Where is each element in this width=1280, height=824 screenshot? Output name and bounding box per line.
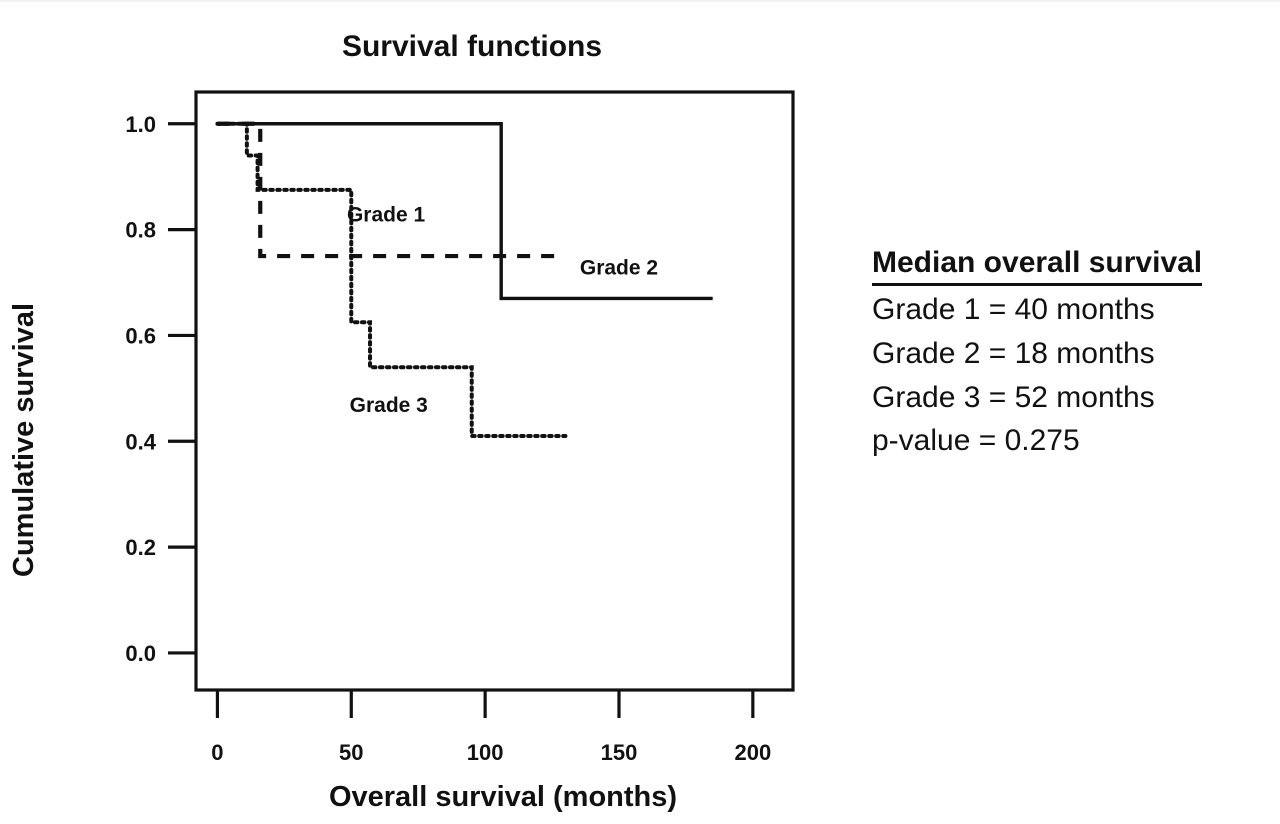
curve-label-grade-1: Grade 1 bbox=[347, 204, 426, 227]
y-tick-label: 0.2 bbox=[125, 535, 156, 560]
y-tick-label: 0.6 bbox=[125, 323, 156, 348]
y-tick-label: 0.4 bbox=[125, 429, 156, 454]
legend-line-grade-1: Grade 1 = 40 months bbox=[872, 290, 1272, 330]
legend-heading: Median overall survival bbox=[872, 244, 1202, 286]
median-survival-legend: Median overall survival Grade 1 = 40 mon… bbox=[872, 244, 1272, 461]
survival-figure: Survival functions Overall survival (mon… bbox=[0, 0, 1280, 824]
curve-label-grade-3: Grade 3 bbox=[350, 394, 428, 417]
x-axis-title: Overall survival (months) bbox=[329, 781, 677, 813]
x-tick-label: 50 bbox=[339, 740, 363, 765]
legend-line-grade-2: Grade 2 = 18 months bbox=[872, 334, 1272, 374]
y-tick-label: 0.0 bbox=[125, 641, 156, 666]
legend-line-grade-3: Grade 3 = 52 months bbox=[872, 378, 1272, 418]
y-tick-label: 1.0 bbox=[125, 112, 156, 137]
y-tick-label: 0.8 bbox=[125, 218, 156, 243]
plot-frame bbox=[196, 92, 793, 690]
chart-title: Survival functions bbox=[342, 30, 602, 63]
y-axis-title: Cumulative survival bbox=[8, 303, 40, 577]
x-tick-label: 0 bbox=[211, 740, 223, 765]
x-tick-label: 200 bbox=[734, 740, 771, 765]
x-tick-label: 150 bbox=[601, 740, 638, 765]
curve-label-grade-2: Grade 2 bbox=[580, 257, 658, 280]
y-axis-ticks: 0.00.20.40.60.81.0 bbox=[125, 112, 196, 666]
x-tick-label: 100 bbox=[467, 740, 504, 765]
x-axis-ticks: 050100150200 bbox=[211, 690, 771, 765]
km-curves bbox=[217, 124, 712, 436]
legend-line-p-value: p-value = 0.275 bbox=[872, 421, 1272, 461]
km-curve-grade-3 bbox=[217, 124, 565, 436]
